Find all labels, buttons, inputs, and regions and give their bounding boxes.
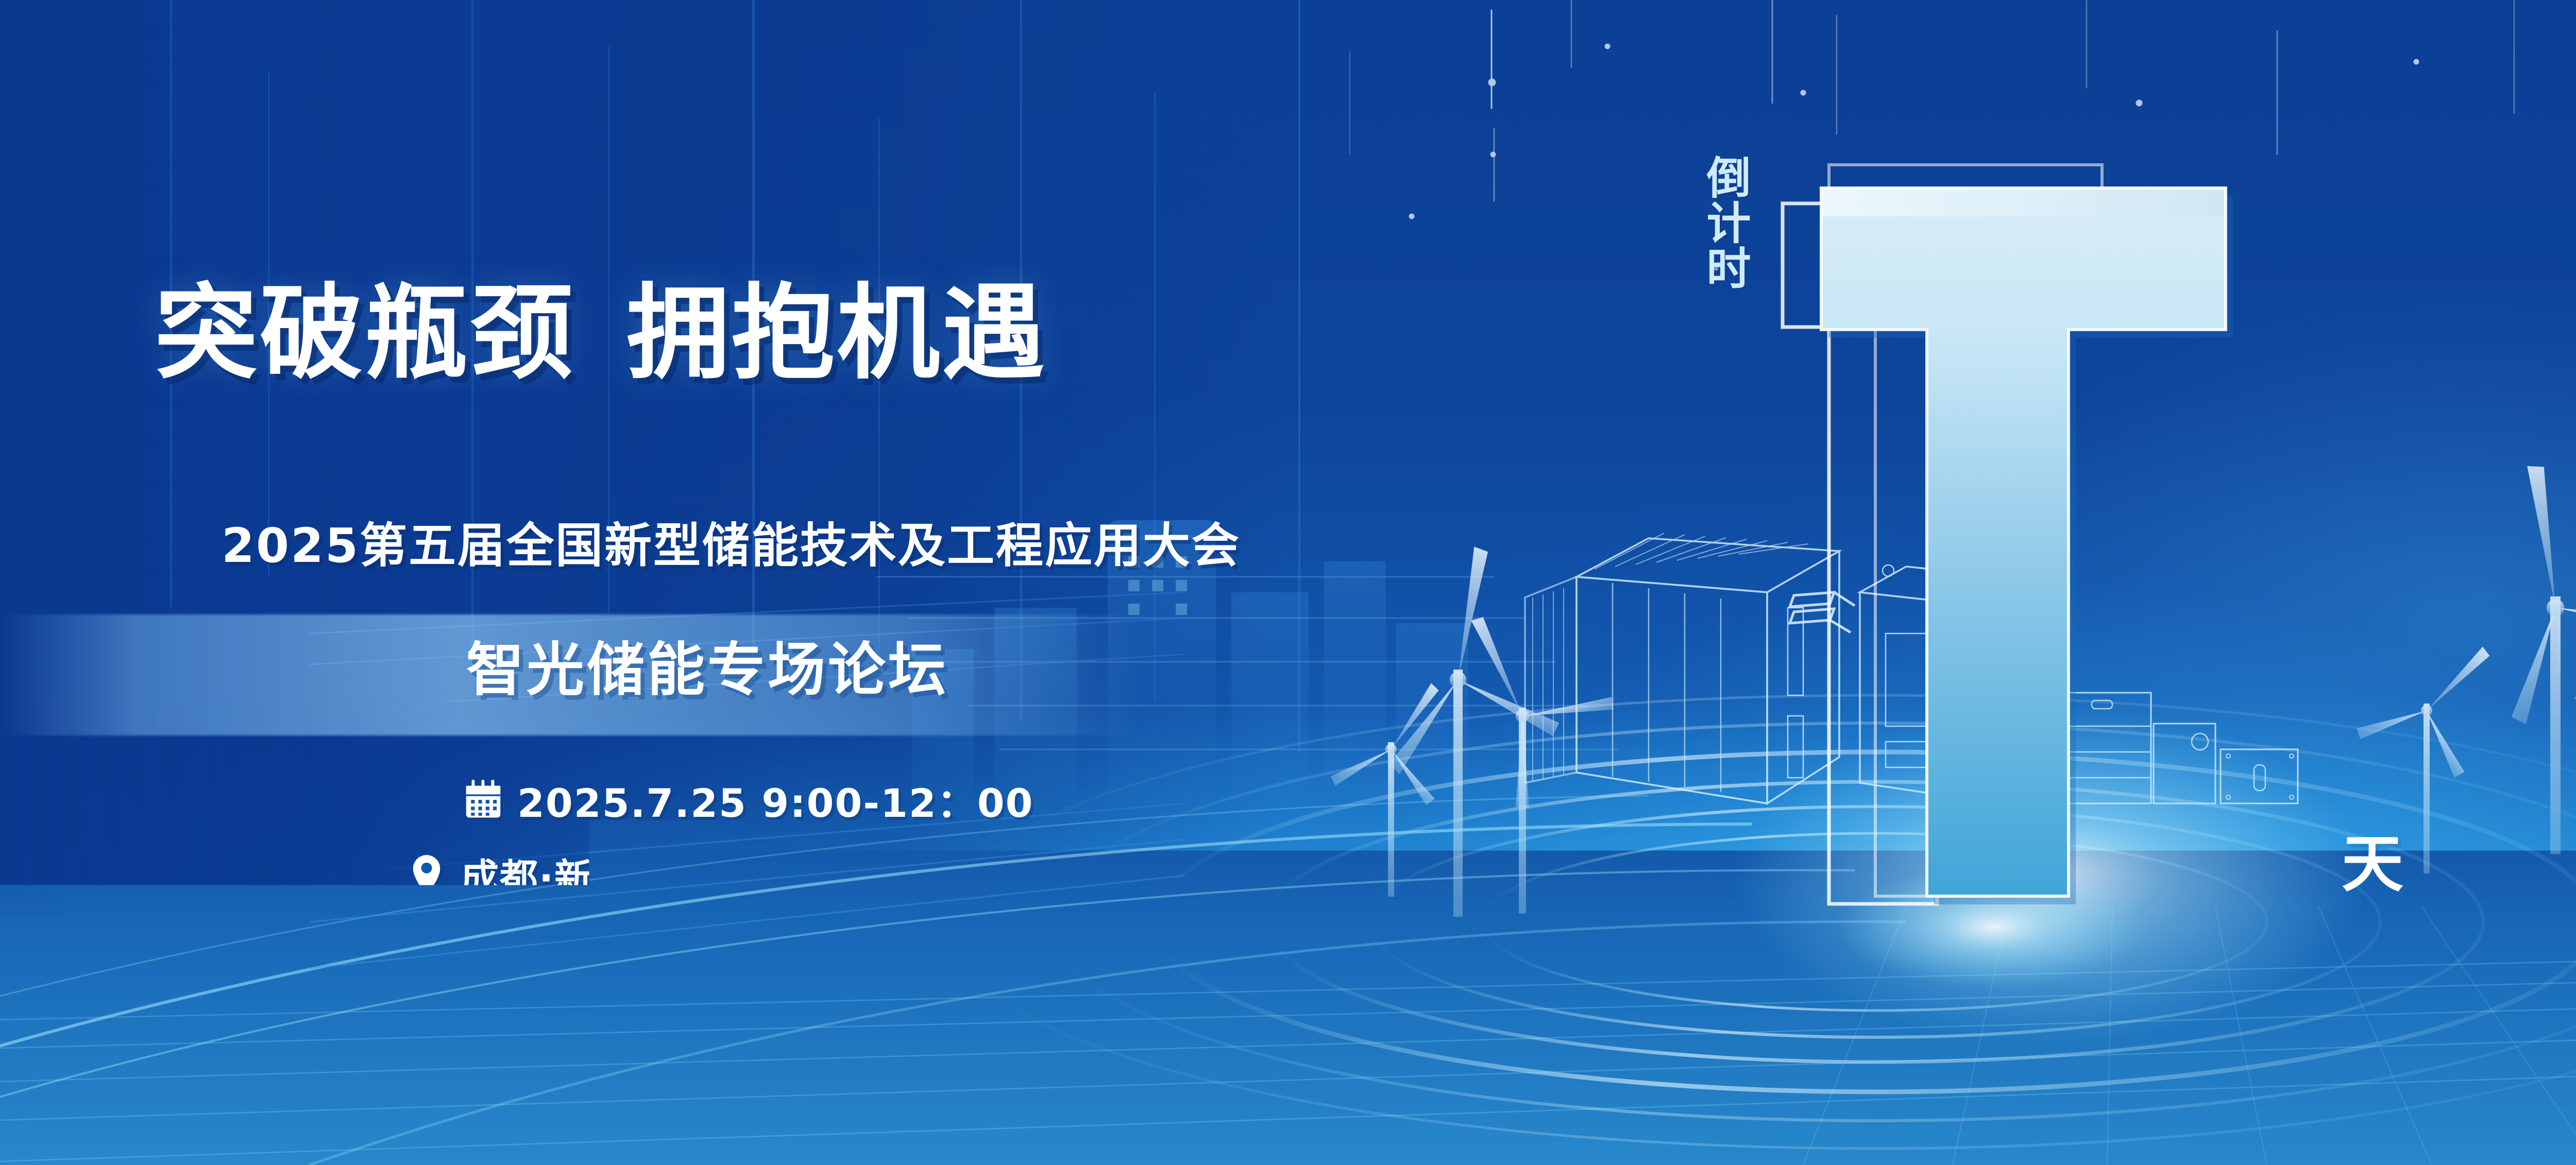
countdown-label: 倒计时: [1692, 155, 1749, 290]
conference-title: 2025第五届全国新型储能技术及工程应用大会: [222, 507, 1241, 576]
headline-part-1: 突破瓶颈: [155, 273, 575, 393]
headline: 突破瓶颈拥抱机遇: [155, 278, 1047, 389]
event-location-row: 成都·新希望高新皇冠假日酒店-峨眉厅: [407, 847, 1120, 902]
promo-banner: 突破瓶颈拥抱机遇 2025第五届全国新型储能技术及工程应用大会 智光储能专场论坛: [0, 0, 2576, 1165]
event-date-text: 2025.7.25 9:00-12：00: [517, 772, 1033, 828]
countdown-number-top-facet: [1821, 188, 2226, 216]
countdown-number-wrap: [1772, 139, 2287, 922]
forum-title: 智光储能专场论坛: [466, 623, 948, 707]
map-pin-icon: [407, 853, 446, 897]
text-content-block: 突破瓶颈拥抱机遇 2025第五届全国新型储能技术及工程应用大会 智光储能专场论坛: [0, 0, 1494, 1165]
countdown-number-body: [1821, 188, 2226, 896]
countdown-unit: 天: [2342, 814, 2403, 903]
event-date-row: 2025.7.25 9:00-12：00: [464, 772, 1033, 828]
event-location-text: 成都·新希望高新皇冠假日酒店-峨眉厅: [461, 847, 1120, 902]
calendar-icon: [464, 778, 503, 821]
headline-part-2: 拥抱机遇: [626, 273, 1047, 393]
